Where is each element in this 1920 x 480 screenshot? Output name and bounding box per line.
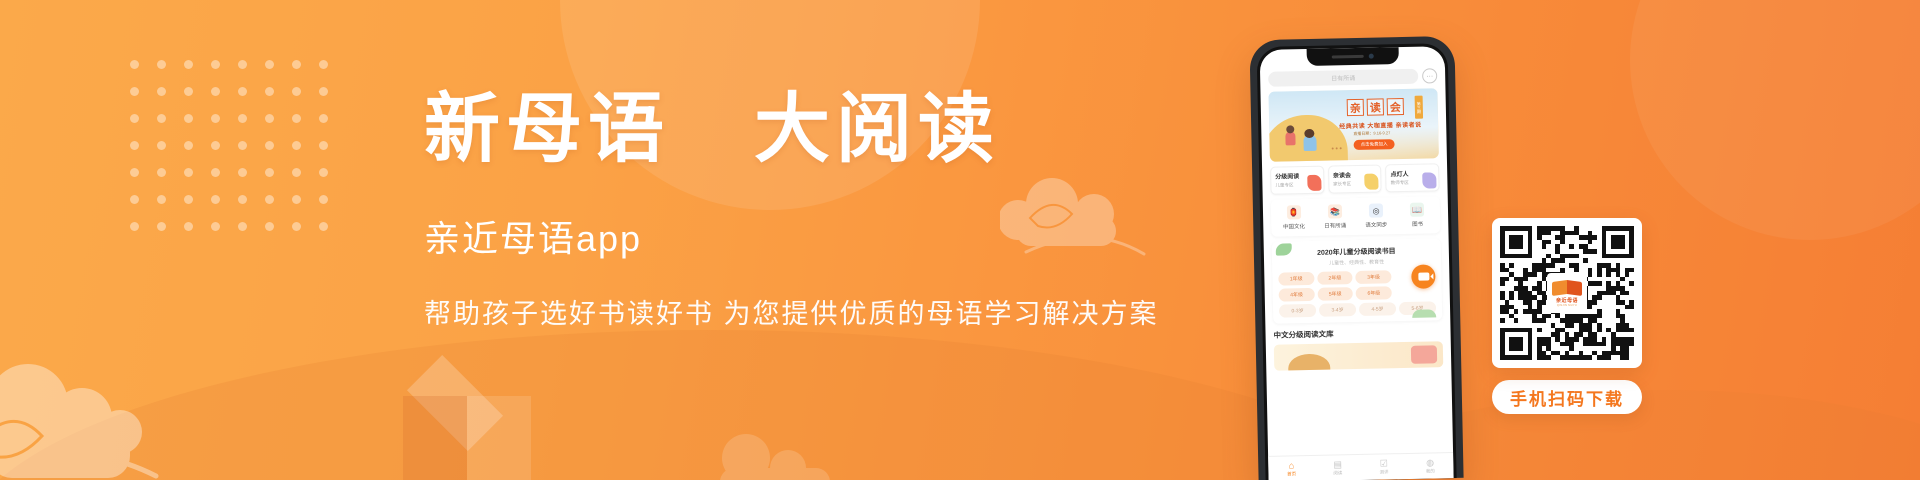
dot	[157, 222, 166, 231]
dot	[238, 87, 247, 96]
dot	[184, 114, 193, 123]
quick-link-2[interactable]: ◎语文同步	[1355, 203, 1397, 229]
dot	[211, 114, 220, 123]
home-icon: ⌂	[1268, 460, 1314, 470]
dot	[130, 87, 139, 96]
dot	[184, 60, 193, 69]
open-book-icon	[1552, 279, 1582, 295]
dot	[238, 168, 247, 177]
dot	[211, 195, 220, 204]
dot	[157, 195, 166, 204]
phone-screen: 日有所诵 ⋯ 亲读会 第三期 经典共读 大咖直播 亲读者说 直播日期：9.	[1260, 46, 1454, 480]
hero-char-2: 会	[1387, 98, 1404, 115]
dot	[265, 168, 274, 177]
quick-links: 🏮中国文化📚日有所诵◎语文同步📖图书	[1271, 196, 1441, 237]
tab-label: 我的	[1407, 468, 1453, 475]
dot	[157, 114, 166, 123]
isometric-cube-icon	[390, 360, 560, 480]
dot	[157, 141, 166, 150]
qr-code: 亲近母语 QINJIN MUYU	[1492, 218, 1642, 368]
dot	[211, 87, 220, 96]
dot	[265, 141, 274, 150]
dot	[319, 222, 328, 231]
library-card[interactable]	[1274, 341, 1444, 371]
brand-logo: 亲近母语 QINJIN MUYU	[1547, 273, 1587, 313]
banner-copy: 新母语 大阅读 亲近母语app 帮助孩子选好书读好书 为您提供优质的母语学习解决…	[424, 92, 1254, 331]
chinese-cloud-icon	[700, 424, 880, 480]
dot	[265, 114, 274, 123]
booklist-card: 2020年儿童分级阅读书目 儿童性、经典性、教育性 1年级2年级3年级4年级5年…	[1272, 238, 1443, 324]
dot	[184, 87, 193, 96]
grade-tag-2[interactable]: 3年级	[1356, 270, 1392, 284]
dot	[238, 195, 247, 204]
quick-link-label: 中国文化	[1273, 222, 1314, 231]
sync-icon: ◎	[1369, 203, 1383, 217]
message-icon[interactable]: ⋯	[1422, 68, 1437, 83]
hero-subtitle: 经典共读 大咖直播 亲读者说	[1339, 120, 1422, 131]
camera-icon	[1368, 54, 1373, 59]
dot	[319, 114, 328, 123]
hero-char-1: 读	[1367, 98, 1384, 115]
dot	[157, 168, 166, 177]
quick-link-0[interactable]: 🏮中国文化	[1273, 205, 1315, 231]
dot	[292, 87, 301, 96]
grade-tag-5[interactable]: 6年级	[1356, 286, 1392, 300]
phone-mockup: 日有所诵 ⋯ 亲读会 第三期 经典共读 大咖直播 亲读者说 直播日期：9.	[1249, 36, 1463, 480]
grade-tag-0[interactable]: 1年级	[1278, 272, 1314, 286]
tab-label: 测评	[1361, 468, 1407, 475]
quick-link-label: 日有所诵	[1314, 221, 1355, 230]
chinese-cloud-icon	[0, 346, 200, 480]
dot	[292, 114, 301, 123]
carousel-dots[interactable]	[1332, 147, 1342, 149]
age-tag-1[interactable]: 3-4岁	[1319, 303, 1356, 317]
grade-tags: 1年级2年级3年级4年级5年级6年级	[1278, 270, 1392, 301]
tab-label: 首页	[1268, 470, 1314, 477]
phone-bezel: 日有所诵 ⋯ 亲读会 第三期 经典共读 大咖直播 亲读者说 直播日期：9.	[1257, 43, 1457, 480]
dot	[211, 60, 220, 69]
hero-date: 直播日期：9.16-9.27	[1353, 130, 1390, 137]
grade-tag-1[interactable]: 2年级	[1317, 271, 1353, 285]
book-stack-icon: 📚	[1328, 204, 1342, 218]
category-cards: 分级阅读儿童专区亲读会家长专区点灯人教师专区	[1270, 163, 1440, 195]
dot	[319, 60, 328, 69]
dot	[130, 222, 139, 231]
dot	[130, 60, 139, 69]
card-decor-icon	[1422, 172, 1436, 188]
hero-flag-badge: 第三期	[1415, 96, 1423, 119]
grade-tag-3[interactable]: 4年级	[1279, 288, 1315, 302]
dot	[184, 168, 193, 177]
dot	[157, 60, 166, 69]
speaker-icon	[1331, 55, 1363, 59]
app-name: 亲近母语app	[424, 210, 1254, 262]
dot	[265, 222, 274, 231]
dot	[319, 141, 328, 150]
age-tag-2[interactable]: 4-5岁	[1359, 302, 1396, 316]
library-title: 中文分级阅读文库	[1273, 326, 1442, 341]
hero-char-0: 亲	[1347, 99, 1364, 116]
tagline: 帮助孩子选好书读好书 为您提供优质的母语学习解决方案	[424, 292, 1254, 331]
user-icon: ◍	[1407, 458, 1453, 468]
dot	[130, 195, 139, 204]
dot	[238, 114, 247, 123]
dot	[238, 222, 247, 231]
booklist-subtitle: 儿童性、经典性、教育性	[1278, 257, 1435, 267]
hero-banner[interactable]: 亲读会 第三期 经典共读 大咖直播 亲读者说 直播日期：9.16-9.27 点击…	[1268, 88, 1438, 162]
tab-label: 阅读	[1315, 469, 1361, 476]
quick-link-label: 语文同步	[1356, 220, 1397, 229]
dot	[238, 60, 247, 69]
category-card-2[interactable]: 点灯人教师专区	[1385, 163, 1439, 192]
dot	[265, 87, 274, 96]
dot	[211, 222, 220, 231]
dot	[130, 168, 139, 177]
dot	[265, 60, 274, 69]
dot	[292, 195, 301, 204]
dot	[265, 195, 274, 204]
category-card-0[interactable]: 分级阅读儿童专区	[1270, 166, 1324, 195]
promo-banner: 新母语 大阅读 亲近母语app 帮助孩子选好书读好书 为您提供优质的母语学习解决…	[0, 0, 1920, 480]
dot	[292, 168, 301, 177]
book-icon: 📖	[1410, 203, 1424, 217]
dot	[130, 141, 139, 150]
tab-2[interactable]: ☑测评	[1361, 458, 1408, 475]
tab-3[interactable]: ◍我的	[1407, 458, 1454, 475]
booklist-title: 2020年儿童分级阅读书目	[1278, 245, 1435, 258]
tab-1[interactable]: ▤阅读	[1314, 459, 1361, 476]
dot	[292, 141, 301, 150]
lantern-icon: 🏮	[1286, 205, 1300, 219]
category-card-1[interactable]: 亲读会家长专区	[1328, 164, 1382, 193]
dot	[184, 141, 193, 150]
headline-part-1: 新母语	[424, 88, 670, 172]
dot	[157, 87, 166, 96]
app-content: 日有所诵 ⋯ 亲读会 第三期 经典共读 大咖直播 亲读者说 直播日期：9.	[1260, 46, 1452, 371]
decorative-circle-right	[1630, 0, 1920, 240]
page-title: 新母语 大阅读	[424, 92, 1254, 168]
download-button[interactable]: 手机扫码下载	[1492, 380, 1642, 414]
grade-tag-4[interactable]: 5年级	[1317, 287, 1353, 301]
dot	[319, 168, 328, 177]
dot	[319, 87, 328, 96]
hero-join-button[interactable]: 点击免费加入	[1354, 139, 1395, 150]
leaf-icon	[1412, 309, 1436, 318]
age-tag-0[interactable]: 0-3岁	[1279, 304, 1316, 318]
quick-link-label: 图书	[1397, 219, 1438, 228]
hero-title: 亲读会	[1347, 98, 1404, 116]
logo-pinyin: QINJIN MUYU	[1557, 304, 1577, 307]
dot	[184, 222, 193, 231]
dot	[130, 114, 139, 123]
dot	[211, 141, 220, 150]
hero-child-illustration	[1285, 131, 1295, 145]
card-decor-icon	[1365, 174, 1379, 190]
dot	[292, 60, 301, 69]
quick-link-1[interactable]: 📚日有所诵	[1314, 204, 1356, 230]
phone-notch	[1306, 47, 1398, 66]
dot	[238, 141, 247, 150]
document-icon: ▤	[1314, 459, 1360, 469]
video-play-icon[interactable]	[1411, 264, 1435, 288]
dot	[184, 195, 193, 204]
tab-0[interactable]: ⌂首页	[1268, 460, 1315, 477]
qr-block: 亲近母语 QINJIN MUYU 手机扫码下载	[1492, 218, 1642, 414]
quick-link-3[interactable]: 📖图书	[1397, 202, 1439, 228]
logo-text: 亲近母语	[1556, 297, 1578, 304]
dot	[319, 195, 328, 204]
app-search-row: 日有所诵 ⋯	[1268, 68, 1437, 87]
card-decor-icon	[1307, 175, 1321, 191]
headline-part-2: 大阅读	[754, 88, 1000, 172]
search-input[interactable]: 日有所诵	[1268, 69, 1418, 87]
dot-grid-pattern	[130, 60, 346, 249]
dot	[211, 168, 220, 177]
app-tabbar: ⌂首页▤阅读☑测评◍我的	[1268, 452, 1454, 480]
checklist-icon: ☑	[1361, 458, 1407, 468]
dot	[292, 222, 301, 231]
